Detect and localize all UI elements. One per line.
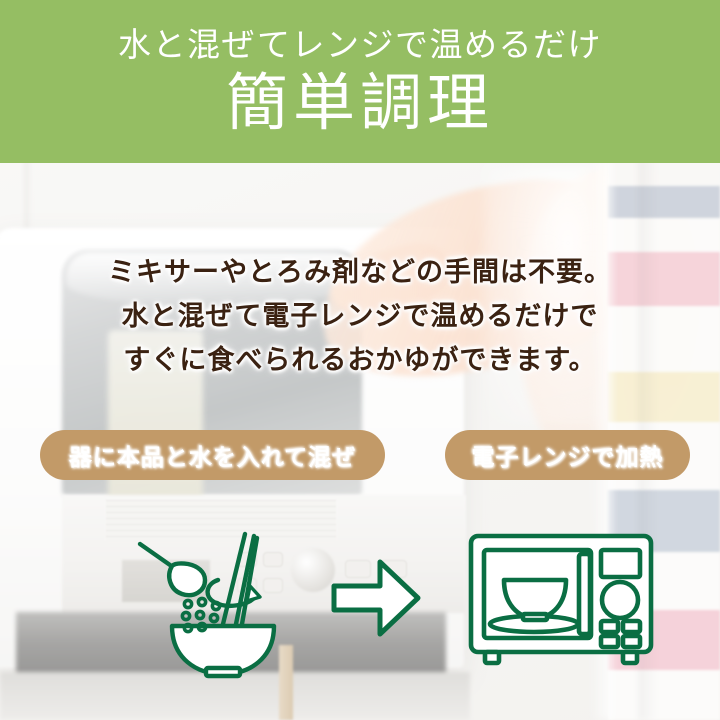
description-line-1: ミキサーやとろみ剤などの手間は不要。 [0, 250, 720, 294]
floor [0, 672, 470, 720]
microwave-icon [466, 528, 656, 680]
right-arrow-icon [330, 558, 422, 638]
step-2-label-pill: 電子レンジで加熱 [445, 430, 690, 480]
step-2-label: 電子レンジで加熱 [472, 438, 664, 472]
description-line-2: 水と混ぜて電子レンジで温めるだけで [0, 294, 720, 338]
header-subtitle: 水と混ぜてレンジで温めるだけ [118, 28, 602, 61]
header-banner: 水と混ぜてレンジで温めるだけ 簡単調理 [0, 0, 720, 163]
infographic-page: 水と混ぜてレンジで温めるだけ 簡単調理 ミキサーやとろみ剤などの手間は不要。 水… [0, 0, 720, 720]
page-title: 簡単調理 [226, 73, 494, 135]
bowl-spoon-chopsticks-icon [126, 528, 316, 678]
description-line-3: すぐに食べられるおかゆができます。 [0, 338, 720, 382]
description-text: ミキサーやとろみ剤などの手間は不要。 水と混ぜて電子レンジで温めるだけで すぐに… [0, 250, 720, 382]
step-1-label: 器に本品と水を入れて混ぜ [69, 438, 356, 472]
step-1-label-pill: 器に本品と水を入れて混ぜ [40, 430, 385, 480]
